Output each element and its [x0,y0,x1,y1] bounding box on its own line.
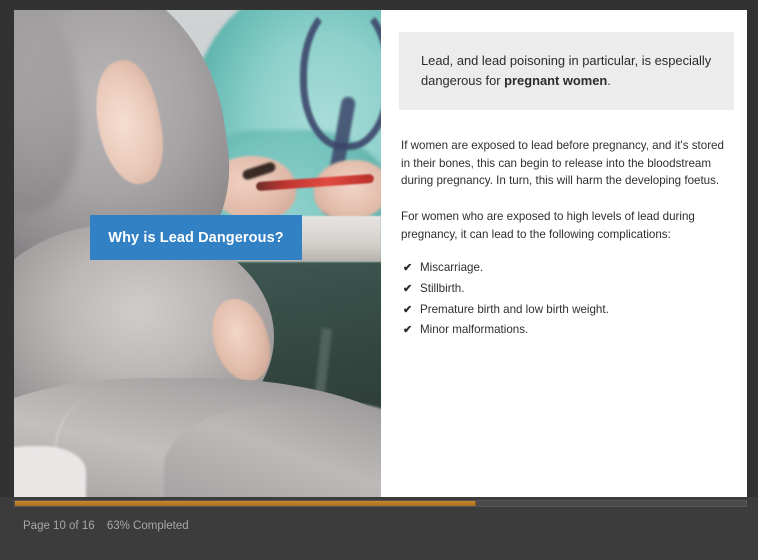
course-player-window: Why is Lead Dangerous? Lead, and lead po… [0,0,758,560]
progress-bar-track[interactable] [14,500,747,507]
player-toolbar: Page 10 of 16 63% Completed ‹ Prev Next … [0,497,758,560]
list-item-label: Minor malformations. [420,321,528,339]
list-item: ✔ Stillbirth. [403,280,734,298]
check-icon: ✔ [403,263,420,274]
check-icon: ✔ [403,325,420,336]
complications-list: ✔ Miscarriage. ✔ Stillbirth. ✔ Premature… [403,259,734,338]
slide-content-panel: Lead, and lead poisoning in particular, … [381,10,747,497]
check-icon: ✔ [403,284,420,295]
photo-nurse-hand-right [314,160,381,220]
list-item: ✔ Minor malformations. [403,321,734,339]
completion-label: 63% Completed [107,520,189,532]
photo-sleeve-fold [14,10,94,221]
callout-text-tail: . [607,73,611,88]
slide-title-text: Why is Lead Dangerous? [108,230,283,246]
page-status: Page 10 of 16 63% Completed [23,520,189,532]
body-paragraph-1: If women are exposed to lead before preg… [401,137,726,190]
page-counter-label: Page 10 of 16 [23,520,95,532]
slide-title-banner: Why is Lead Dangerous? [90,215,302,260]
list-item-label: Miscarriage. [420,259,483,277]
body-paragraph-2: For women who are exposed to high levels… [401,208,726,243]
check-icon: ✔ [403,305,420,316]
list-item: ✔ Premature birth and low birth weight. [403,301,734,319]
list-item-label: Stillbirth. [420,280,464,298]
list-item: ✔ Miscarriage. [403,259,734,277]
callout-box: Lead, and lead poisoning in particular, … [399,32,734,110]
progress-bar-fill [15,501,476,506]
slide-area: Why is Lead Dangerous? Lead, and lead po… [14,10,747,497]
callout-text-emphasis: pregnant women [504,73,607,88]
callout-text: Lead, and lead poisoning in particular, … [421,51,712,92]
list-item-label: Premature birth and low birth weight. [420,301,609,319]
